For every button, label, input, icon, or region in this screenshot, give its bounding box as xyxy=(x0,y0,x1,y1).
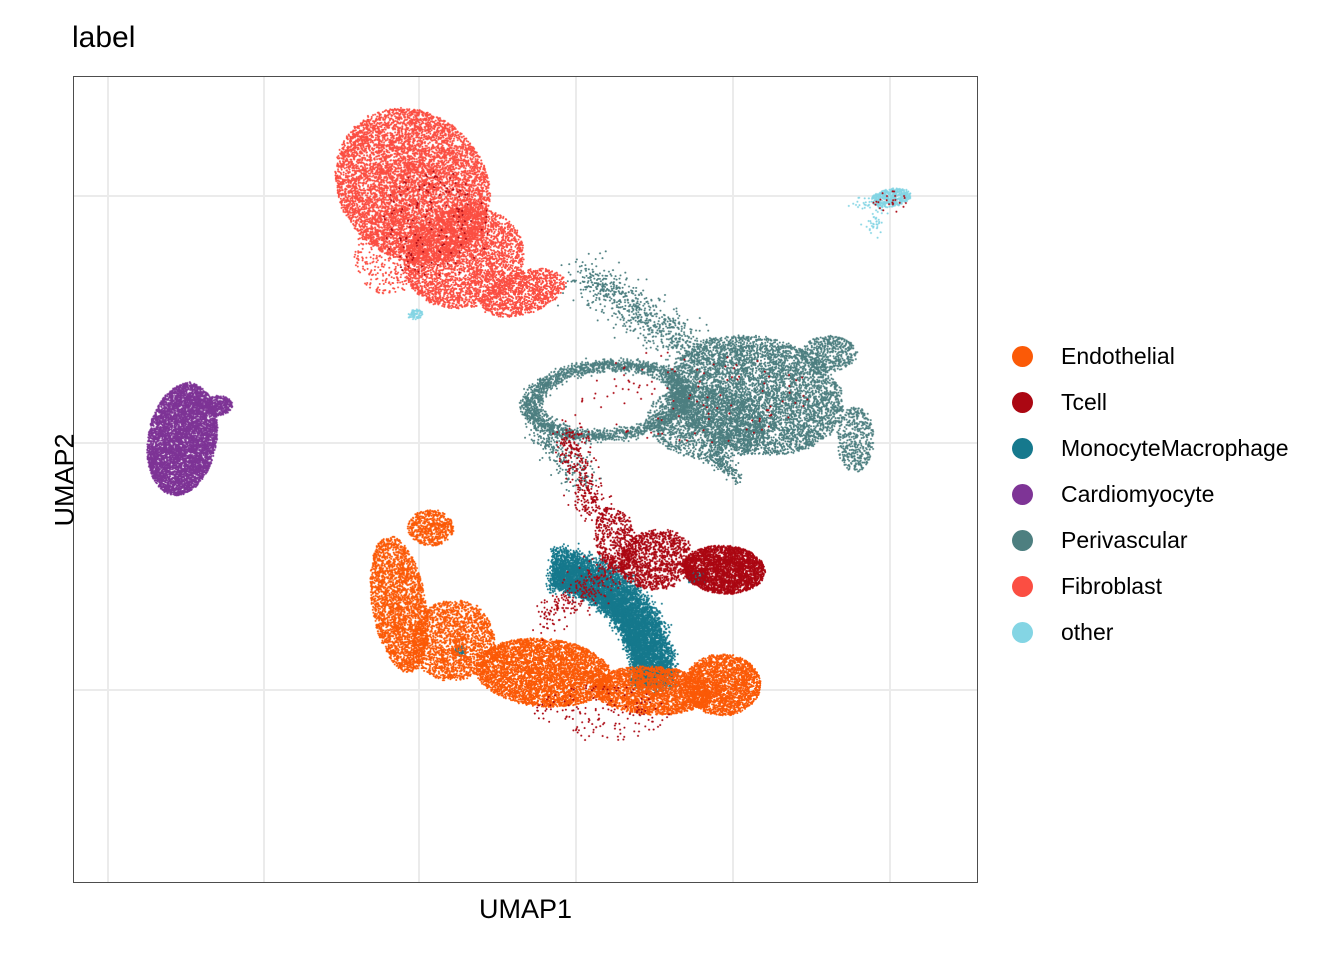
legend-item-label: Perivascular xyxy=(1061,527,1188,553)
legend-item-label: Endothelial xyxy=(1061,343,1175,369)
plot-panel xyxy=(73,76,978,883)
legend-item-label: other xyxy=(1061,619,1113,645)
legend-item[interactable]: Cardiomyocyte xyxy=(1005,471,1335,517)
legend-color-swatch-icon xyxy=(1005,569,1039,603)
legend-item[interactable]: Tcell xyxy=(1005,379,1335,425)
legend-item-label: Cardiomyocyte xyxy=(1061,481,1214,507)
umap-scatter-figure: label UMAP1 UMAP2 EndothelialTcellMonocy… xyxy=(0,0,1344,960)
legend: EndothelialTcellMonocyteMacrophageCardio… xyxy=(1005,333,1335,655)
legend-item[interactable]: Fibroblast xyxy=(1005,563,1335,609)
legend-color-swatch-icon xyxy=(1005,523,1039,557)
x-axis-label: UMAP1 xyxy=(73,893,978,925)
legend-item-label: Tcell xyxy=(1061,389,1107,415)
legend-item[interactable]: Endothelial xyxy=(1005,333,1335,379)
page-title: label xyxy=(72,20,135,56)
scatter-points-canvas xyxy=(74,77,977,882)
legend-color-swatch-icon xyxy=(1005,431,1039,465)
legend-color-swatch-icon xyxy=(1005,477,1039,511)
legend-color-swatch-icon xyxy=(1005,385,1039,419)
y-axis-label: UMAP2 xyxy=(49,28,81,933)
legend-item[interactable]: MonocyteMacrophage xyxy=(1005,425,1335,471)
legend-item[interactable]: other xyxy=(1005,609,1335,655)
legend-color-swatch-icon xyxy=(1005,615,1039,649)
legend-item[interactable]: Perivascular xyxy=(1005,517,1335,563)
legend-color-swatch-icon xyxy=(1005,339,1039,373)
legend-item-label: Fibroblast xyxy=(1061,573,1162,599)
legend-item-label: MonocyteMacrophage xyxy=(1061,435,1289,461)
